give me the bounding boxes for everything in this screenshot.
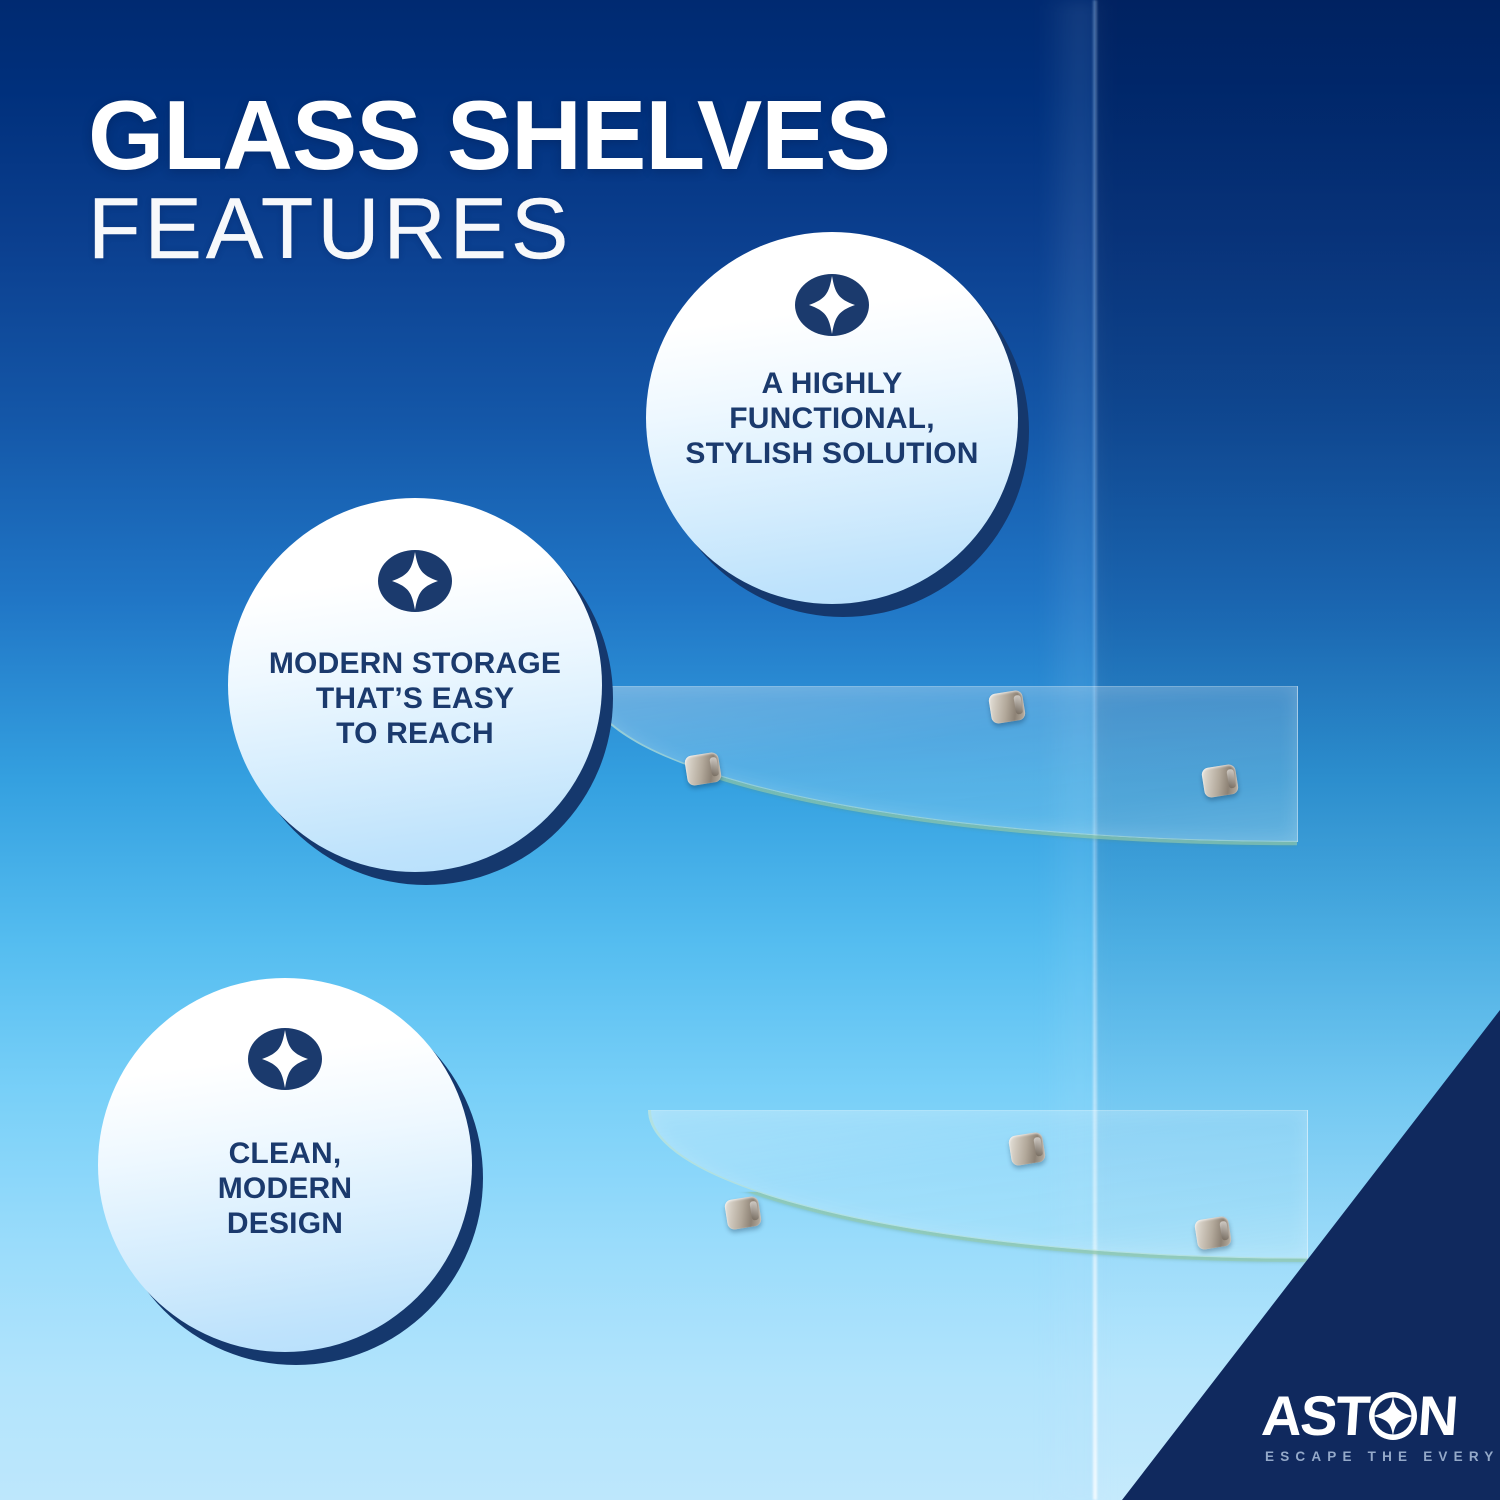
brand-tagline: ESCAPE THE EVERYDAY	[1265, 1449, 1462, 1464]
badge-disc: CLEAN, MODERN DESIGN	[98, 978, 472, 1352]
headline-primary: GLASS SHELVES	[88, 88, 1088, 182]
badge-line: TO REACH	[269, 717, 561, 752]
feature-badge-modern-storage[interactable]: MODERN STORAGE THAT’S EASY TO REACH	[228, 498, 602, 872]
badge-line: DESIGN	[218, 1207, 353, 1242]
badge-disc: A HIGHLY FUNCTIONAL, STYLISH SOLUTION	[646, 232, 1018, 604]
four-point-star-icon	[795, 274, 869, 341]
brand-word-after: N	[1416, 1388, 1458, 1444]
four-point-star-icon	[378, 550, 452, 617]
shelf-bracket	[1008, 1132, 1046, 1167]
feature-badge-clean-modern-design[interactable]: CLEAN, MODERN DESIGN	[98, 978, 472, 1352]
badge-line: FUNCTIONAL,	[685, 402, 978, 437]
brand-word-before: AST	[1260, 1388, 1370, 1444]
badge-line: CLEAN,	[218, 1137, 353, 1172]
badge-line: MODERN	[218, 1172, 353, 1207]
brand-wordmark: AST N	[1260, 1388, 1464, 1444]
badge-line: MODERN STORAGE	[269, 647, 561, 682]
shelf-bracket	[684, 752, 722, 787]
four-point-star-icon	[1369, 1392, 1417, 1440]
shelf-bracket	[988, 690, 1026, 725]
shelf-bracket	[1201, 764, 1239, 799]
badge-text: A HIGHLY FUNCTIONAL, STYLISH SOLUTION	[667, 367, 996, 471]
badge-text: MODERN STORAGE THAT’S EASY TO REACH	[251, 647, 579, 751]
feature-badge-highly-functional[interactable]: A HIGHLY FUNCTIONAL, STYLISH SOLUTION	[646, 232, 1018, 604]
badge-text: CLEAN, MODERN DESIGN	[200, 1137, 371, 1241]
shelf-bracket	[724, 1196, 762, 1231]
infographic-canvas: GLASS SHELVES FEATURES A HIGHLY FUNCTION…	[0, 0, 1500, 1500]
four-point-star-icon	[248, 1028, 322, 1095]
badge-line: STYLISH SOLUTION	[685, 437, 978, 472]
badge-line: A HIGHLY	[685, 367, 978, 402]
brand-logo[interactable]: AST N ESCAPE THE EVERYDAY	[1262, 1388, 1462, 1464]
glass-shelf-upper	[588, 686, 1298, 1076]
shelf-bracket	[1194, 1216, 1232, 1251]
badge-line: THAT’S EASY	[269, 682, 561, 717]
badge-disc: MODERN STORAGE THAT’S EASY TO REACH	[228, 498, 602, 872]
